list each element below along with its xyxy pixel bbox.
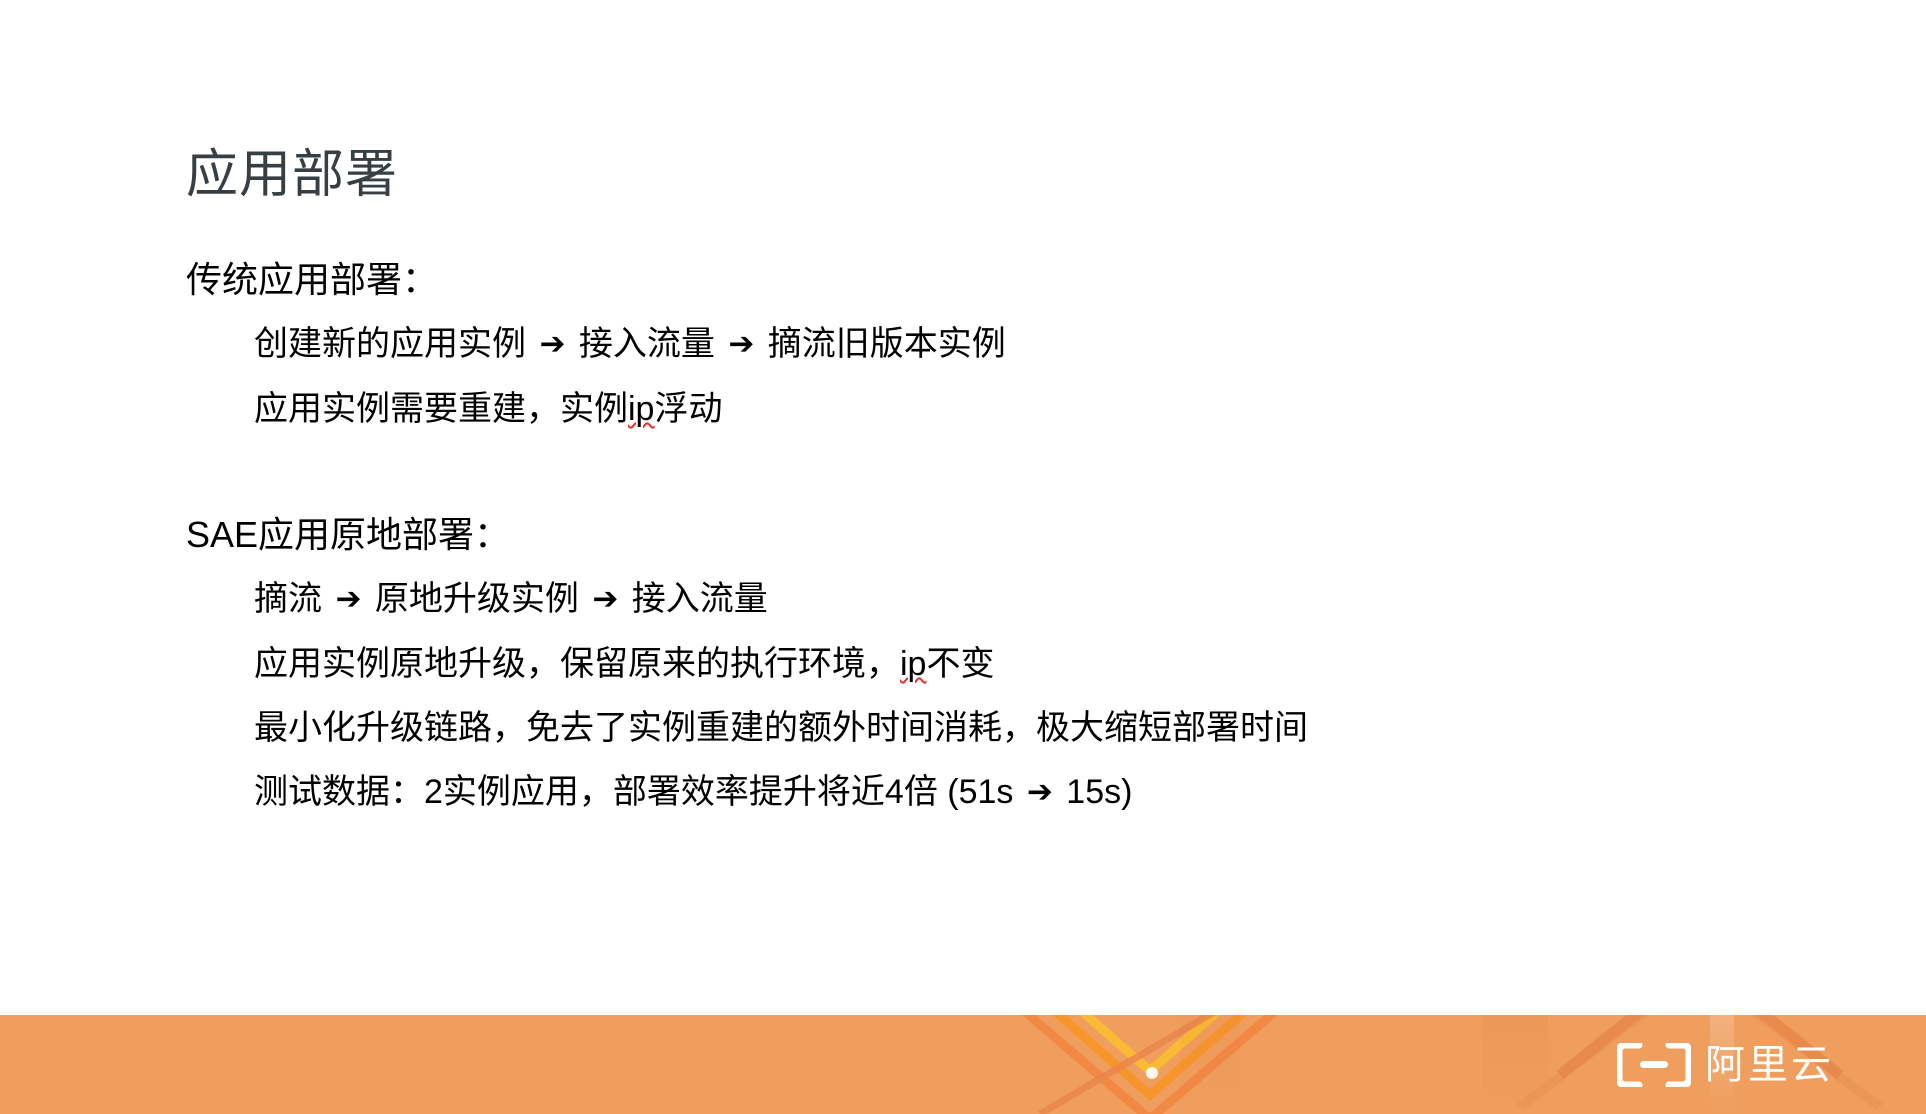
list-item: 最小化升级链路，免去了实例重建的额外时间消耗，极大缩短部署时间 [254,696,1746,760]
list-item: 应用实例原地升级，保留原来的执行环境，ip不变 [254,632,1746,696]
text-segment: 接入流量 [622,580,767,618]
block-bullet-list: 摘流 ➔ 原地升级实例 ➔ 接入流量应用实例原地升级，保留原来的执行环境，ip不… [186,567,1746,825]
alibaba-cloud-logo: 阿里云 [1617,1043,1834,1087]
arrow-icon: ➔ [535,312,569,376]
text-segment: 15s) [1057,773,1133,811]
text-segment: 接入流量 [569,325,724,363]
misspelled-text: ip [628,390,654,428]
block-heading: SAE应用原地部署： [186,503,1746,567]
arrow-icon: ➔ [588,567,622,631]
page-title: 应用部署 [186,143,398,208]
text-segment: 不变 [926,645,994,683]
arrow-icon: ➔ [331,567,365,631]
list-item: 应用实例需要重建，实例ip浮动 [254,377,1746,441]
text-segment: 测试数据：2实例应用，部署效率提升将近4倍 (51s [254,773,1023,811]
text-segment: 应用实例需要重建，实例 [254,390,628,428]
list-item: 测试数据：2实例应用，部署效率提升将近4倍 (51s ➔ 15s) [254,760,1746,825]
list-item: 摘流 ➔ 原地升级实例 ➔ 接入流量 [254,567,1746,632]
text-segment: 摘流旧版本实例 [758,325,1005,363]
arrow-icon: ➔ [724,312,758,376]
alibaba-cloud-logo-text: 阿里云 [1705,1045,1834,1085]
slide-body: 传统应用部署：创建新的应用实例 ➔ 接入流量 ➔ 摘流旧版本实例应用实例需要重建… [186,248,1746,825]
block-heading: 传统应用部署： [186,248,1746,312]
list-item: 创建新的应用实例 ➔ 接入流量 ➔ 摘流旧版本实例 [254,312,1746,377]
content-block: SAE应用原地部署：摘流 ➔ 原地升级实例 ➔ 接入流量应用实例原地升级，保留原… [186,503,1746,825]
text-segment: 最小化升级链路，免去了实例重建的额外时间消耗，极大缩短部署时间 [254,709,1308,747]
content-block: 传统应用部署：创建新的应用实例 ➔ 接入流量 ➔ 摘流旧版本实例应用实例需要重建… [186,248,1746,441]
text-segment: 应用实例原地升级，保留原来的执行环境， [254,645,900,683]
footer-banner: 阿里云 [0,1015,1926,1114]
misspelled-text: ip [900,645,926,683]
alibaba-cloud-bracket-icon [1617,1043,1691,1087]
text-segment: 浮动 [654,390,722,428]
block-bullet-list: 创建新的应用实例 ➔ 接入流量 ➔ 摘流旧版本实例应用实例需要重建，实例ip浮动 [186,312,1746,441]
text-segment: 摘流 [254,580,331,618]
slide: 应用部署 传统应用部署：创建新的应用实例 ➔ 接入流量 ➔ 摘流旧版本实例应用实… [0,0,1926,1114]
text-segment: 创建新的应用实例 [254,325,535,363]
text-segment: 原地升级实例 [365,580,588,618]
arrow-icon: ➔ [1023,760,1057,824]
